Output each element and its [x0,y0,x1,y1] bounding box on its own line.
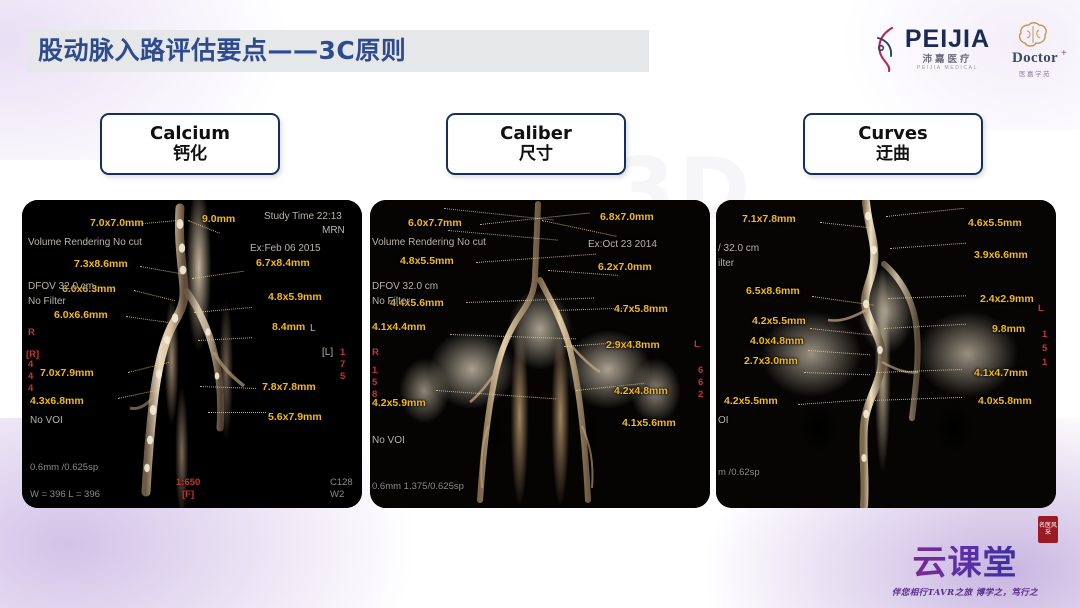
voi-text: OI [718,416,729,426]
orientation-marker-l: L [694,340,700,350]
measurement-label: 7.3x8.6mm [74,259,128,270]
measurement-label: 9.0mm [202,214,235,225]
logo-group: PEIJIA 沛嘉医疗 PEIJIA MEDICAL Doctor+ 医嘉学苑 [872,18,1058,80]
dfov-text: / 32.0 cm [718,244,759,254]
dfov-text: DFOV 32.0 cm [372,282,438,292]
measurement-label: 2.9x4.8mm [606,340,660,351]
red-digit: 7 [340,360,345,370]
measurement-label: 4.8x5.9mm [268,292,322,303]
measurement-label: 7.0x7.9mm [40,368,94,379]
concept-label-en: Calcium [150,123,230,144]
ct-image-caliber[interactable]: 6.0x7.7mm 4.8x5.5mm 4.4x5.6mm 4.1x4.4mm … [370,200,710,508]
peijia-wordmark: PEIJIA 沛嘉医疗 PEIJIA MEDICAL [905,27,990,71]
ct-render-curves: 7.1x7.8mm 6.5x8.6mm 4.2x5.5mm 4.0x4.8mm … [716,200,1056,508]
measurement-label: 2.4x2.9mm [980,294,1034,305]
measurement-label: 4.2x5.9mm [372,398,426,409]
measurement-label: 4.1x4.4mm [372,322,426,333]
peijia-name: PEIJIA [905,27,990,52]
mrn-text: MRN [322,226,345,236]
slice-text: 0.6mm 1.375/0.625sp [372,482,464,492]
exam-date-text: Ex:Feb 06 2015 [250,244,321,254]
measurement-label: 5.6x7.9mm [268,412,322,423]
measurement-label: 4.0x4.8mm [750,336,804,347]
filter-text: No Filter [372,297,410,307]
voi-text: No VOI [30,416,63,426]
measurement-label: 4.7x5.8mm [614,304,668,315]
dfov-text: DFOV 32.0 cm [28,282,94,292]
concept-label-en: Caliber [500,123,572,144]
measurement-label: 9.8mm [992,324,1025,335]
plus-icon: + [1061,48,1067,59]
orientation-marker-l: L [310,324,316,334]
peijia-name-en: PEIJIA MEDICAL [917,66,978,71]
red-digit: 1 [340,348,345,358]
orientation-marker-f: [F] [182,490,194,500]
concept-label-en: Curves [858,123,928,144]
slice-text: 0.6mm /0.625sp [30,463,98,473]
peijia-name-cn: 沛嘉医疗 [922,55,972,65]
orientation-marker-l-brackets: [L] [322,348,333,358]
red-digit: 2 [698,390,703,400]
ct-image-curves[interactable]: 7.1x7.8mm 6.5x8.6mm 4.2x5.5mm 4.0x4.8mm … [716,200,1056,508]
scale-text: 1:650 [176,478,200,488]
brand-title: 云课堂 [913,546,1018,582]
brand-tagline: 伴您相行TAVR之旅 博学之，笃行之 [892,586,1038,598]
measurement-label: 4.6x5.5mm [968,218,1022,229]
red-digit: 1 [1042,358,1047,368]
measurement-label: 4.1x4.7mm [974,368,1028,379]
corner-code-text: C128 [330,478,353,488]
render-mode-text: Volume Rendering No cut [28,238,142,248]
red-digit: 5 [372,378,377,388]
red-digit: 6 [698,378,703,388]
page-title: 股动脉入路评估要点——3C原则 [38,33,406,69]
measurement-label: 6.2x7.0mm [598,262,652,273]
measurement-label: 4.2x5.5mm [752,316,806,327]
red-digit: 4 [28,372,33,382]
red-digit: 6 [698,366,703,376]
red-digit: 8 [372,390,377,400]
peijia-logo: PEIJIA 沛嘉医疗 PEIJIA MEDICAL [872,26,990,72]
render-mode-text: Volume Rendering No cut [372,238,486,248]
red-digit: 1 [372,366,377,376]
measurement-label: 4.2x4.8mm [614,386,668,397]
concept-label-cn: 尺寸 [519,144,553,165]
seal-icon: 名医风采 [1038,516,1058,543]
brand-logo-yunketang: 名医风采 云课堂 伴您相行TAVR之旅 博学之，笃行之 [870,518,1060,598]
measurement-label: 6.5x8.6mm [746,286,800,297]
peijia-swoosh-icon [872,26,902,72]
measurement-label: 6.7x8.4mm [256,258,310,269]
exam-date-text: Ex:Oct 23 2014 [588,240,657,250]
doctor-plus-logo: Doctor+ 医嘉学苑 [1012,21,1058,78]
concept-box-calcium[interactable]: Calcium 钙化 [100,113,280,175]
study-time-text: Study Time 22:13 [264,212,342,222]
measurement-label: 4.3x6.8mm [30,396,84,407]
brain-icon [1015,21,1055,49]
measurement-label: 4.0x5.8mm [978,396,1032,407]
measurement-label: 3.9x6.6mm [974,250,1028,261]
concept-box-caliber[interactable]: Caliber 尺寸 [446,113,626,175]
measurement-label: 7.8x7.8mm [262,382,316,393]
measurement-label: 4.2x5.5mm [724,396,778,407]
red-digit: 4 [28,360,33,370]
red-digit: 5 [1042,344,1047,354]
measurement-label: 4.1x5.6mm [622,418,676,429]
ct-render-caliber: 6.0x7.7mm 4.8x5.5mm 4.4x5.6mm 4.1x4.4mm … [370,200,710,508]
orientation-marker-r: R [28,328,35,338]
red-digit: 5 [340,372,345,382]
ct-image-calcium[interactable]: 7.0x7.0mm 7.3x8.6mm 6.0x6.3mm 6.0x6.6mm … [22,200,362,508]
measurement-label: 7.1x7.8mm [742,214,796,225]
concept-label-cn: 迂曲 [876,144,910,165]
measurement-label: 6.0x6.6mm [54,310,108,321]
slide-canvas: 3D 股动脉入路评估要点——3C原则 PEIJIA 沛嘉医疗 PEIJIA ME… [0,0,1080,608]
slice-text: m /0.62sp [718,468,760,478]
ct-render-calcium: 7.0x7.0mm 7.3x8.6mm 6.0x6.3mm 6.0x6.6mm … [22,200,362,508]
concept-box-curves[interactable]: Curves 迂曲 [803,113,983,175]
corner-code-text: W2 [330,490,344,500]
measurement-label: 6.0x7.7mm [408,218,462,229]
measurement-label: 2.7x3.0mm [744,356,798,367]
doctor-name-cn: 医嘉学苑 [1019,68,1051,78]
voi-text: No VOI [372,436,405,446]
doctor-name: Doctor [1012,50,1058,66]
measurement-label: 7.0x7.0mm [90,218,144,229]
doctor-wordmark: Doctor+ [1012,50,1058,67]
filter-text: ilter [718,259,734,269]
orientation-marker-l: L [1038,304,1044,314]
red-digit: 1 [1042,330,1047,340]
concept-label-cn: 钙化 [173,144,207,165]
window-text: W = 396 L = 396 [30,490,100,500]
measurement-label: 8.4mm [272,322,305,333]
filter-text: No Filter [28,297,66,307]
measurement-label: 4.8x5.5mm [400,256,454,267]
red-digit: 4 [28,384,33,394]
measurement-label: 6.8x7.0mm [600,212,654,223]
orientation-marker-r: R [372,348,379,358]
